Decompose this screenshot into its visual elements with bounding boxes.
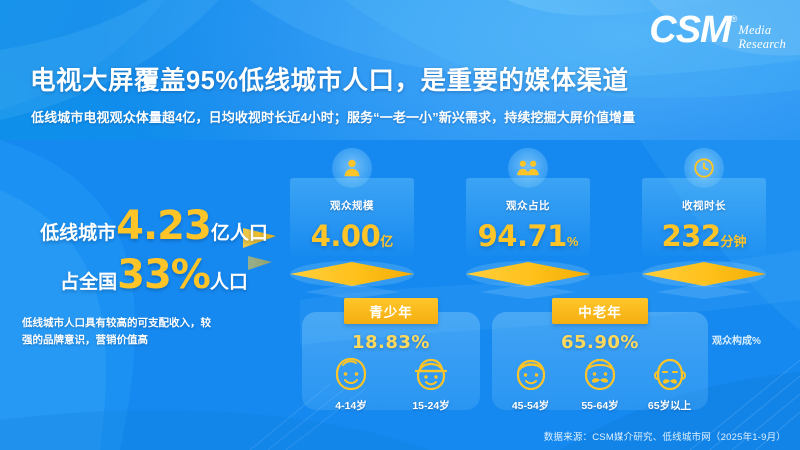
- age-bucket-caption: 4-14岁: [320, 398, 382, 413]
- age-bucket-caption: 45-54岁: [500, 398, 562, 413]
- age-bucket: 15-24岁: [400, 356, 462, 413]
- metric-card-label: 收视时长: [642, 198, 766, 213]
- age-bucket-caption: 65岁以上: [639, 398, 701, 413]
- two-people-icon: [508, 148, 548, 188]
- left-statistics: 低线城市4.23亿人口 占全国33%人口: [20, 206, 288, 304]
- age-bucket: 4-14岁: [320, 356, 382, 413]
- single-person-icon: [332, 148, 372, 188]
- age-bucket-caption: 15-24岁: [400, 398, 462, 413]
- stat-share: 占全国33%人口: [20, 255, 288, 295]
- metric-card-unit: %: [567, 234, 579, 249]
- face-row: 45-54岁 55-64岁: [492, 356, 708, 413]
- stat-share-percent: %: [171, 252, 210, 298]
- mustache-face-icon: [580, 356, 620, 392]
- stat-share-suffix: 人口: [210, 272, 248, 293]
- metric-card-label: 观众规模: [290, 198, 414, 213]
- metric-card-value: 94.71%: [466, 222, 590, 251]
- csm-logo: CSM ® Media Research: [649, 12, 786, 51]
- page-subtitle: 低线城市电视观众体量超4亿，日均收视时长近4小时；服务“一老一小”新兴需求，持续…: [31, 107, 635, 126]
- demographic-percent: 18.83%: [302, 332, 480, 353]
- teen-cap-face-icon: [411, 356, 451, 392]
- stat-population-prefix: 低线城市: [40, 223, 116, 244]
- metric-card: 观众规模 4.00亿: [290, 164, 414, 274]
- demographic-tag: 青少年: [344, 298, 438, 324]
- registered-trademark-icon: ®: [731, 15, 738, 24]
- metric-card-podium: [640, 260, 768, 300]
- demographic-tag: 中老年: [552, 298, 648, 324]
- metric-card-podium: [288, 260, 416, 300]
- age-bucket: 65岁以上: [639, 356, 701, 413]
- logo-tagline-line1: Media: [738, 23, 771, 37]
- audience-composition-label: 观众构成%: [712, 332, 761, 347]
- metric-card-label: 观众占比: [466, 198, 590, 213]
- single-person-glyph: [341, 157, 363, 179]
- child-face-icon: [331, 356, 371, 392]
- left-note: 低线城市人口具有较高的可支配收入，较强的品牌意识，营销价值高: [22, 315, 212, 350]
- stat-population: 低线城市4.23亿人口: [20, 206, 288, 246]
- demographic-panel-elderly: 中老年 65.90% 45-54岁: [492, 312, 708, 410]
- infographic-slide: CSM ® Media Research 电视大屏覆盖95%低线城市人口，是重要…: [0, 0, 800, 450]
- age-bucket: 55-64岁: [569, 356, 631, 413]
- stat-share-value: 33: [117, 252, 171, 298]
- elderly-face-icon: [650, 356, 690, 392]
- stat-population-suffix: 亿人口: [211, 223, 268, 244]
- data-source-footer: 数据来源：CSM媒介研究、低线城市网（2025年1-9月）: [544, 429, 786, 443]
- metric-card: 收视时长 232分钟: [642, 164, 766, 274]
- logo-wordmark: CSM: [649, 12, 730, 48]
- page-title: 电视大屏覆盖95%低线城市人口，是重要的媒体渠道: [30, 60, 629, 97]
- metric-card: 观众占比 94.71%: [466, 164, 590, 274]
- face-row: 4-14岁 15-24岁: [302, 356, 480, 413]
- age-bucket-caption: 55-64岁: [569, 398, 631, 413]
- stat-population-value: 4.23: [116, 203, 211, 249]
- clock-icon: [684, 148, 724, 188]
- metric-card-number: 94.71: [478, 219, 567, 253]
- middleaged-face-icon: [511, 356, 551, 392]
- metric-card-unit: 分钟: [721, 234, 747, 249]
- metric-card-number: 4.00: [311, 219, 381, 253]
- metric-card-value: 232分钟: [642, 222, 766, 251]
- demographic-percent: 65.90%: [492, 332, 708, 353]
- two-people-glyph: [516, 157, 540, 179]
- clock-glyph: [693, 157, 715, 179]
- logo-tagline: Media Research: [738, 23, 786, 51]
- metric-card-value: 4.00亿: [290, 222, 414, 251]
- logo-tagline-line2: Research: [738, 37, 786, 51]
- demographic-panel-youth: 青少年 18.83% 4-14岁: [302, 312, 480, 410]
- metric-card-unit: 亿: [380, 234, 393, 249]
- stat-share-prefix: 占全国: [60, 272, 117, 293]
- metric-card-group: 观众规模 4.00亿 观众占比 9: [282, 146, 786, 291]
- age-bucket: 45-54岁: [500, 356, 562, 413]
- metric-card-number: 232: [661, 219, 720, 253]
- metric-card-podium: [464, 260, 592, 300]
